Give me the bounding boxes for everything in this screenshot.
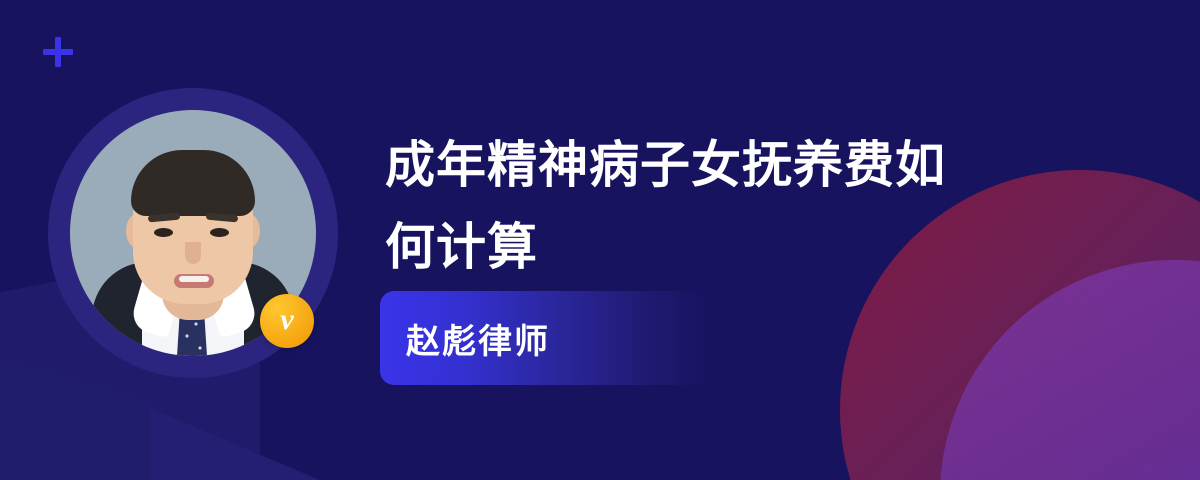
page-title: 成年精神病子女抚养费如 何计算 xyxy=(385,124,1085,288)
portrait-eye-left xyxy=(154,228,173,237)
portrait-nose xyxy=(185,242,201,264)
verified-badge-icon: v xyxy=(260,294,314,348)
plus-icon xyxy=(43,37,73,67)
lawyer-name-button[interactable]: 赵彪律师 xyxy=(380,291,710,385)
plus-icon-vertical-bar xyxy=(55,37,61,67)
portrait-eye-right xyxy=(210,228,229,237)
portrait-hair xyxy=(131,150,255,216)
verified-badge-glyph: v xyxy=(280,305,293,335)
banner-content: 成年精神病子女抚养费如 何计算 xyxy=(385,124,1085,288)
avatar[interactable]: v xyxy=(48,88,338,388)
portrait-teeth xyxy=(179,276,209,282)
lawyer-article-banner: v 成年精神病子女抚养费如 何计算 赵彪律师 xyxy=(0,0,1200,480)
